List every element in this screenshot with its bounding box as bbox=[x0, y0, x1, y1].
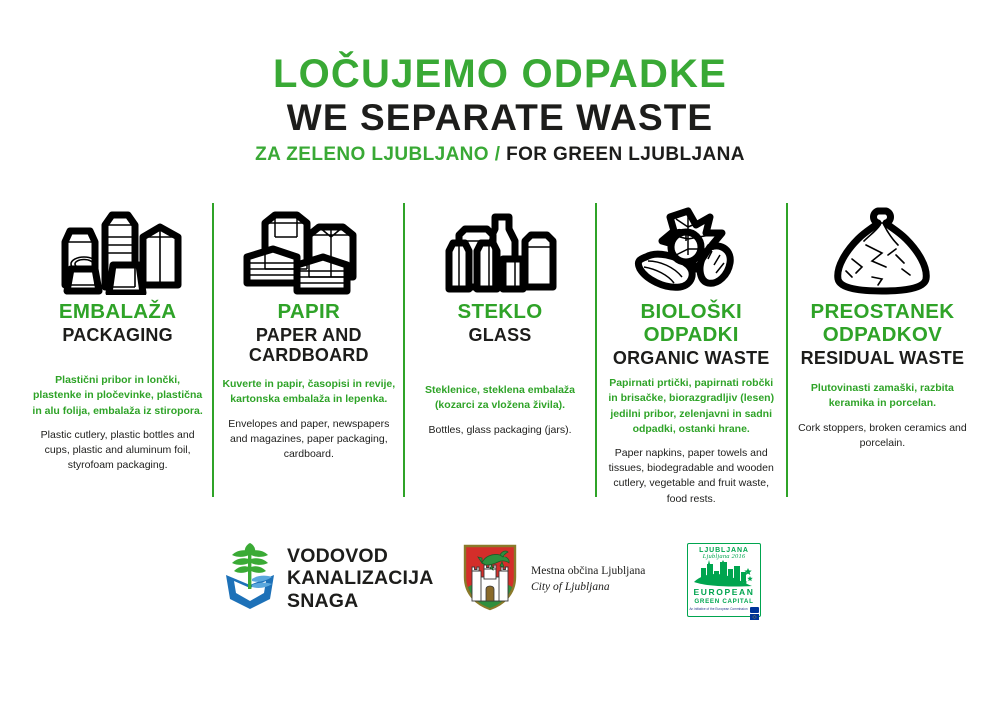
egc-line-1: EUROPEAN bbox=[688, 587, 760, 597]
poster-header: LOČUJEMO ODPADKE WE SEPARATE WASTE ZA ZE… bbox=[0, 0, 1000, 165]
category-column-glass: STEKLO GLASS Steklenice, steklena embala… bbox=[404, 203, 595, 497]
organic-waste-icon bbox=[604, 203, 779, 295]
city-wordmark: Mestna občina Ljubljana City of Ljubljan… bbox=[531, 564, 645, 595]
category-name-slovene: BIOLOŠKI ODPADKI bbox=[604, 301, 779, 347]
subtitle: ZA ZELENO LJUBLJANO / FOR GREEN LJUBLJAN… bbox=[0, 145, 1000, 166]
subtitle-slovene: ZA ZELENO LJUBLJANO bbox=[255, 144, 489, 165]
egc-eu-credit: An initiative of the European Commission bbox=[688, 607, 760, 613]
voka-snaga-mark-icon bbox=[222, 541, 278, 616]
title-english: WE SEPARATE WASTE bbox=[0, 98, 1000, 138]
category-description-english: Envelopes and paper, newspapers and maga… bbox=[221, 417, 396, 463]
subtitle-separator: / bbox=[495, 144, 501, 165]
egc-line-2: GREEN CAPITAL bbox=[688, 598, 760, 605]
voka-line-1: VODOVOD bbox=[287, 545, 433, 568]
category-name-slovene: STEKLO bbox=[458, 301, 543, 324]
category-column-organic: BIOLOŠKI ODPADKI ORGANIC WASTE Papirnati… bbox=[596, 203, 787, 497]
city-name-english: City of Ljubljana bbox=[531, 580, 645, 596]
ljubljana-coat-of-arms-icon bbox=[462, 543, 518, 616]
egc-frame: LJUBLJANA Ljubljana 2016 bbox=[687, 543, 761, 617]
voka-line-3: SNAGA bbox=[287, 590, 433, 613]
category-description-english: Paper napkins, paper towels and tissues,… bbox=[604, 446, 779, 507]
poster-footer: VODOVOD KANALIZACIJA SNAGA bbox=[0, 535, 1000, 635]
voka-snaga-wordmark: VODOVOD KANALIZACIJA SNAGA bbox=[287, 545, 433, 613]
glass-icon bbox=[412, 203, 587, 295]
category-name-english: PAPER AND CARDBOARD bbox=[221, 325, 396, 365]
egc-skyline-icon bbox=[688, 560, 760, 587]
eu-flag-icon bbox=[750, 607, 759, 613]
poster-root: LOČUJEMO ODPADKE WE SEPARATE WASTE ZA ZE… bbox=[0, 0, 1000, 708]
category-name-english: RESIDUAL WASTE bbox=[801, 348, 964, 368]
category-description-slovene: Papirnati prtički, papirnati robčki in b… bbox=[604, 376, 779, 437]
egc-year-script: Ljubljana 2016 bbox=[688, 553, 760, 560]
category-description-english: Plastic cutlery, plastic bottles and cup… bbox=[30, 428, 205, 474]
category-name-english: GLASS bbox=[469, 325, 532, 345]
paper-icon bbox=[221, 203, 396, 295]
category-name-english: ORGANIC WASTE bbox=[613, 348, 770, 368]
category-name-slovene: PAPIR bbox=[277, 301, 340, 324]
category-description-english: Cork stoppers, broken ceramics and porce… bbox=[795, 421, 970, 451]
packaging-icon bbox=[30, 203, 205, 295]
category-description-english: Bottles, glass packaging (jars). bbox=[429, 423, 572, 438]
title-slovene: LOČUJEMO ODPADKE bbox=[0, 54, 1000, 96]
subtitle-english: FOR GREEN LJUBLJANA bbox=[506, 144, 745, 165]
waste-categories: EMBALAŽA PACKAGING Plastični pribor in l… bbox=[22, 203, 978, 497]
category-column-packaging: EMBALAŽA PACKAGING Plastični pribor in l… bbox=[22, 203, 213, 497]
city-name-slovene: Mestna občina Ljubljana bbox=[531, 564, 645, 580]
category-name-slovene: EMBALAŽA bbox=[59, 301, 176, 324]
category-name-slovene: PREOSTANEK ODPADKOV bbox=[795, 301, 970, 347]
logo-european-green-capital: LJUBLJANA Ljubljana 2016 bbox=[687, 543, 761, 617]
category-description-slovene: Kuverte in papir, časopisi in revije, ka… bbox=[221, 377, 396, 407]
category-column-residual: PREOSTANEK ODPADKOV RESIDUAL WASTE Pluto… bbox=[787, 203, 978, 497]
category-description-slovene: Plastični pribor in lončki, plastenke in… bbox=[30, 373, 205, 419]
category-description-slovene: Steklenice, steklena embalaža (kozarci z… bbox=[412, 383, 587, 413]
category-column-paper: PAPIR PAPER AND CARDBOARD Kuverte in pap… bbox=[213, 203, 404, 497]
category-name-english: PACKAGING bbox=[62, 325, 172, 345]
logo-city-of-ljubljana: Mestna občina Ljubljana City of Ljubljan… bbox=[462, 543, 645, 616]
logo-vodovod-kanalizacija-snaga: VODOVOD KANALIZACIJA SNAGA bbox=[222, 541, 433, 616]
residual-waste-icon bbox=[795, 203, 970, 295]
category-description-slovene: Plutovinasti zamaški, razbita keramika i… bbox=[795, 381, 970, 411]
voka-line-2: KANALIZACIJA bbox=[287, 567, 433, 590]
egc-eu-note: An initiative of the European Commission bbox=[689, 608, 747, 612]
